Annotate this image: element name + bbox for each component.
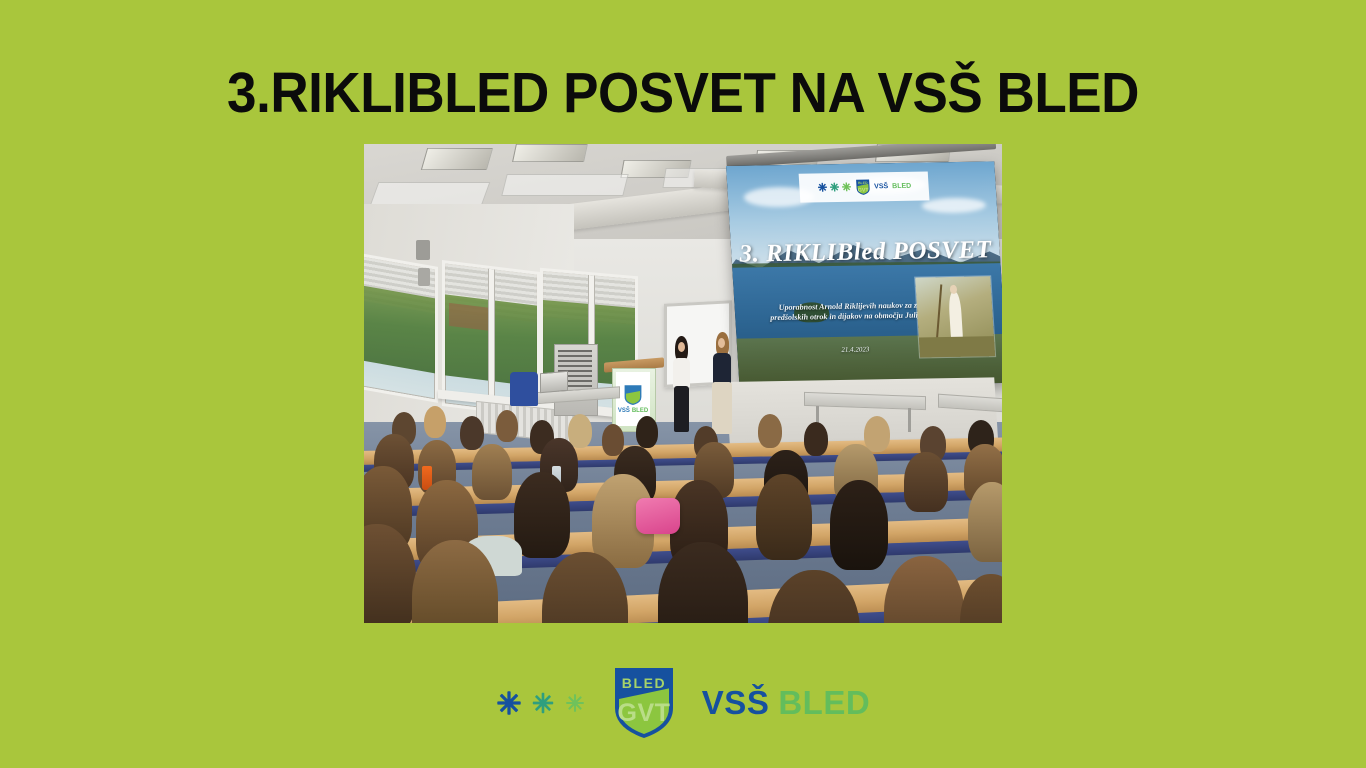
page-title: 3.RIKLIBLED POSVET NA VSŠ BLED [48, 62, 1318, 125]
presenter-right-top [713, 353, 731, 384]
inset-head [950, 285, 957, 294]
presenter-right [708, 332, 736, 440]
student-head-b2 [424, 406, 446, 438]
presenter-right-face [718, 338, 725, 348]
presentation-slide: 3.RIKLIBLED POSVET NA VSŠ BLED [0, 0, 1366, 768]
window-mullion-center [489, 269, 494, 410]
office-chair [510, 372, 538, 406]
slide-asterisk-icons [817, 182, 852, 193]
presenter-left-face [678, 342, 685, 352]
back-table-leg-2 [908, 408, 911, 432]
asterisk-icon-mid [531, 691, 555, 715]
slide-title: 3. RIKLIBled POSVET [731, 237, 1001, 270]
asterisk-group [496, 690, 586, 716]
pink-handbag [636, 498, 680, 534]
svg-text:GVT: GVT [857, 187, 869, 193]
footer-logo-lockup: BLED GVT VSŠ BLED [0, 655, 1366, 750]
shield-top-label: BLED [622, 675, 667, 691]
ceiling-light-2 [512, 144, 588, 162]
wordmark-bled: BLED [778, 684, 870, 722]
student-head-b10 [758, 414, 782, 448]
student-head-b6 [568, 414, 592, 448]
presenter-left-top [673, 358, 690, 388]
student-head-b12 [864, 416, 890, 452]
slide-logo-bar: BLED GVT VSŠ BLED [799, 171, 929, 202]
student-head-b4 [496, 410, 518, 442]
window-foliage-left [364, 285, 435, 373]
student-head-b3 [460, 416, 484, 450]
shield-logo: BLED GVT [608, 663, 680, 743]
student-head-b8 [636, 416, 658, 448]
ceiling-light-1 [421, 148, 493, 170]
student-hair-d7 [830, 480, 888, 570]
student-hair-d3 [514, 472, 570, 558]
classroom-photo: BLED GVT VSŠ BLED 3. RIKLIBled POSVET Up… [364, 144, 1002, 623]
presenter-left [668, 336, 694, 436]
presenter-left-trousers [674, 386, 689, 432]
projection-screen: BLED GVT VSŠ BLED 3. RIKLIBled POSVET Up… [726, 161, 1002, 387]
ceiling-tile-2 [501, 174, 628, 196]
presenter-right-trousers [712, 382, 732, 434]
ceiling-tile-1 [370, 182, 491, 206]
svg-text:BLED: BLED [858, 181, 868, 185]
slide-inset-photo [915, 277, 995, 358]
student-hair-c3 [472, 444, 512, 500]
vss-bled-wordmark: VSŠ BLED [702, 684, 870, 722]
bled-gvt-shield-icon: BLED GVT [610, 664, 678, 742]
asterisk-icon-dark [496, 690, 522, 716]
lectern-shield-icon [620, 384, 646, 406]
slide-wordmark-secondary: BLED [892, 183, 912, 190]
wall-speaker-upper [416, 240, 430, 260]
inset-ground [919, 336, 995, 358]
lectern-wordmark-secondary: BLED [632, 408, 648, 414]
asterisk-icon-light [564, 692, 586, 714]
wordmark-vss: VSŠ [702, 684, 770, 722]
student-head-b11 [804, 422, 828, 456]
student-hair-d6 [756, 474, 812, 560]
student-hair-d9 [968, 482, 1002, 562]
wall-speaker-lower [418, 268, 430, 286]
laptop [540, 371, 568, 393]
shield-bottom-label: GVT [617, 699, 670, 727]
slide-shield-icon: BLED GVT [855, 178, 871, 195]
student-hair-d8 [904, 470, 964, 562]
lectern-wordmark-primary: VSŠ [618, 408, 630, 414]
photo-canvas: BLED GVT VSŠ BLED 3. RIKLIBled POSVET Up… [364, 144, 1002, 623]
slide-wordmark-primary: VSŠ [874, 183, 888, 190]
